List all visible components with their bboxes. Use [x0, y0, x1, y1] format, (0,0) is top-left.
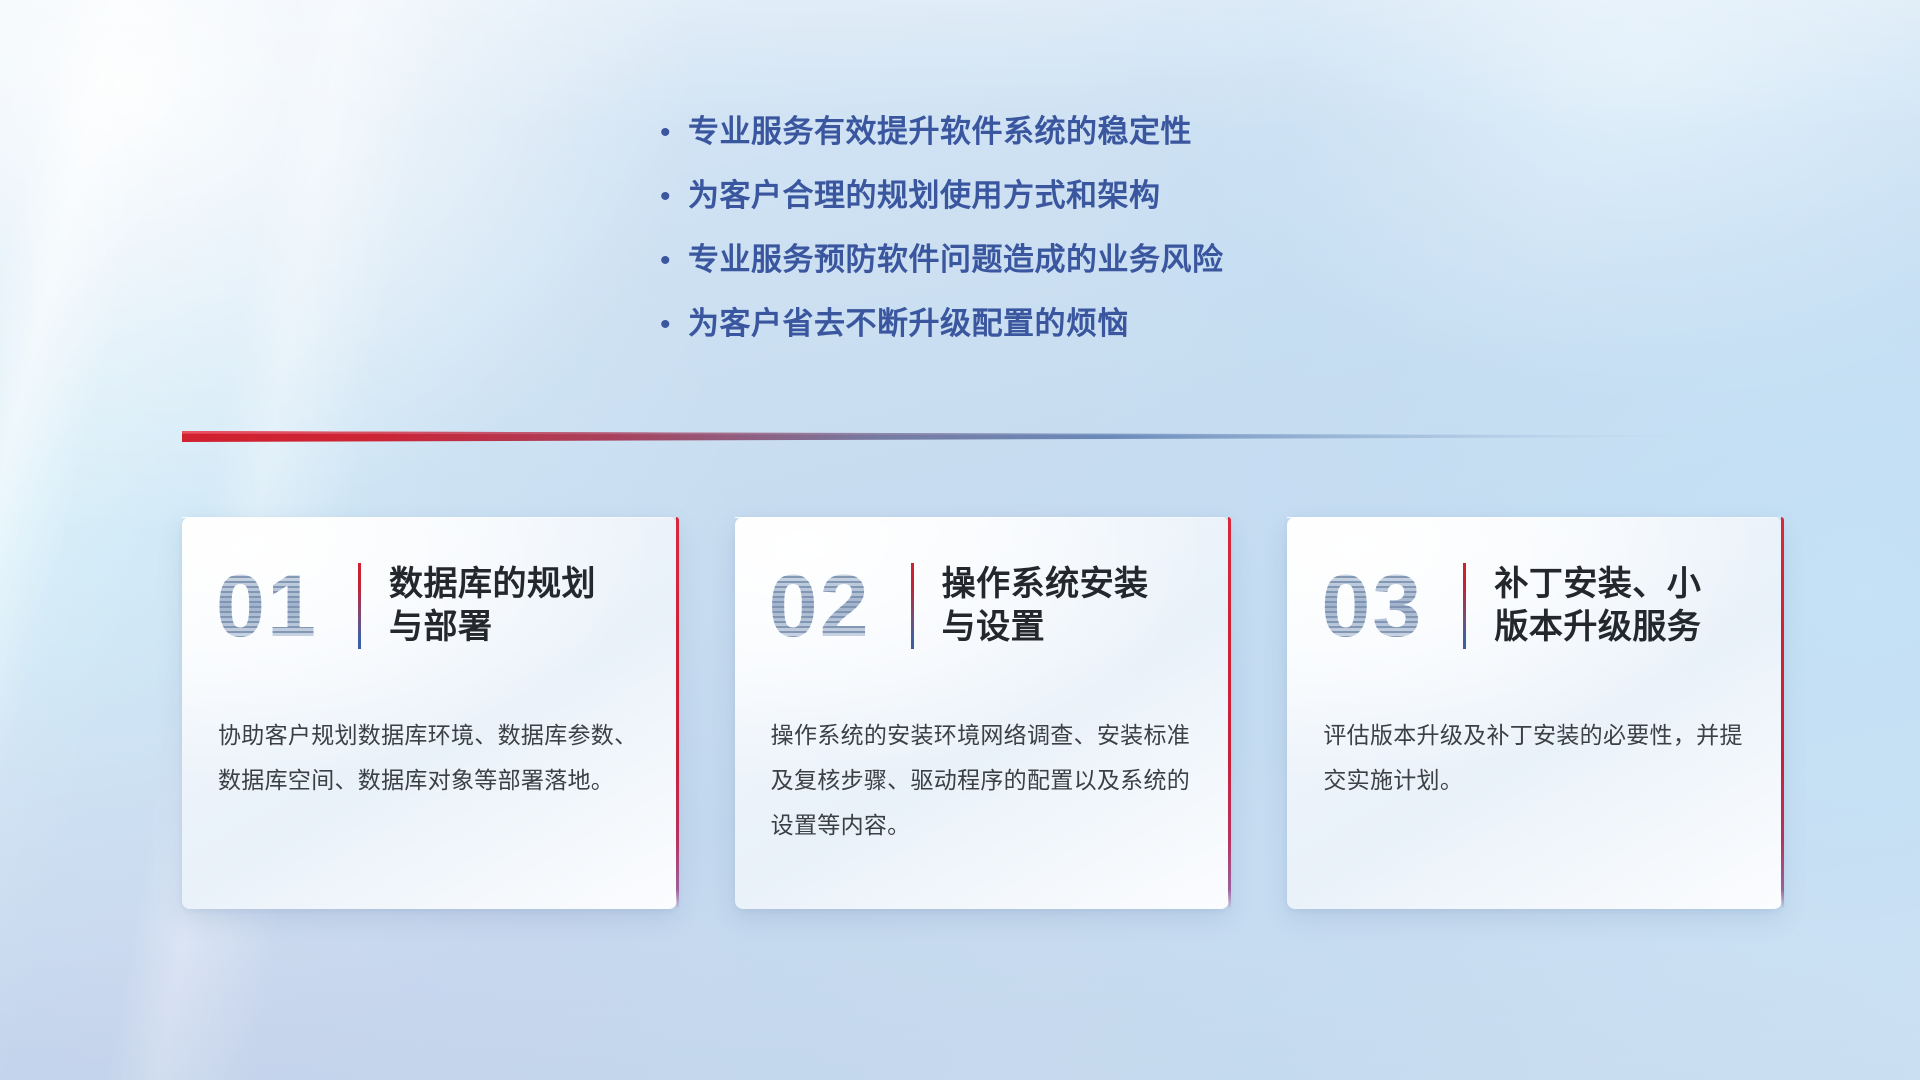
- bullet-dot-icon: •: [660, 118, 688, 148]
- card-vertical-rule: [911, 563, 914, 649]
- list-item: • 为客户合理的规划使用方式和架构: [660, 170, 1224, 234]
- card-header: 03 补丁安装、小 版本升级服务: [1321, 545, 1701, 667]
- bullet-text: 为客户合理的规划使用方式和架构: [688, 170, 1161, 215]
- service-card-02[interactable]: 02 操作系统安装 与设置 操作系统的安装环境网络调查、安装标准及复核步骤、驱动…: [735, 517, 1230, 909]
- service-card-03[interactable]: 03 补丁安装、小 版本升级服务 评估版本升级及补丁安装的必要性，并提交实施计划…: [1287, 517, 1782, 909]
- list-item: • 专业服务预防软件问题造成的业务风险: [660, 234, 1224, 298]
- card-title: 操作系统安装 与设置: [942, 563, 1149, 649]
- card-body-text: 评估版本升级及补丁安装的必要性，并提交实施计划。: [1323, 713, 1747, 803]
- card-title: 补丁安装、小 版本升级服务: [1494, 563, 1701, 649]
- card-body-text: 协助客户规划数据库环境、数据库参数、数据库空间、数据库对象等部署落地。: [218, 713, 642, 803]
- card-number: 01: [216, 551, 352, 661]
- card-top-highlight: [735, 517, 1230, 518]
- card-number: 03: [1321, 551, 1457, 661]
- card-title: 数据库的规划 与部署: [389, 563, 596, 649]
- bullet-dot-icon: •: [660, 310, 688, 340]
- card-header: 02 操作系统安装 与设置: [769, 545, 1149, 667]
- card-vertical-rule: [1463, 563, 1466, 649]
- bullet-text: 专业服务有效提升软件系统的稳定性: [688, 106, 1192, 151]
- card-top-highlight: [182, 517, 677, 518]
- card-accent-edge: [676, 517, 679, 909]
- card-number: 02: [769, 551, 905, 661]
- card-top-highlight: [1287, 517, 1782, 518]
- card-accent-edge: [1228, 517, 1231, 909]
- list-item: • 为客户省去不断升级配置的烦恼: [660, 298, 1224, 362]
- card-header: 01 数据库的规划 与部署: [216, 545, 596, 667]
- bullet-dot-icon: •: [660, 182, 688, 212]
- card-body-text: 操作系统的安装环境网络调查、安装标准及复核步骤、驱动程序的配置以及系统的设置等内…: [771, 713, 1195, 848]
- section-divider: [182, 425, 1727, 445]
- list-item: • 专业服务有效提升软件系统的稳定性: [660, 106, 1224, 170]
- bullet-text: 专业服务预防软件问题造成的业务风险: [688, 234, 1224, 279]
- bullet-dot-icon: •: [660, 246, 688, 276]
- benefits-bullet-list: • 专业服务有效提升软件系统的稳定性 • 为客户合理的规划使用方式和架构 • 专…: [660, 106, 1224, 362]
- service-cards: 01 数据库的规划 与部署 协助客户规划数据库环境、数据库参数、数据库空间、数据…: [182, 517, 1782, 909]
- bullet-text: 为客户省去不断升级配置的烦恼: [688, 298, 1129, 343]
- card-vertical-rule: [358, 563, 361, 649]
- service-card-01[interactable]: 01 数据库的规划 与部署 协助客户规划数据库环境、数据库参数、数据库空间、数据…: [182, 517, 677, 909]
- card-accent-edge: [1781, 517, 1784, 909]
